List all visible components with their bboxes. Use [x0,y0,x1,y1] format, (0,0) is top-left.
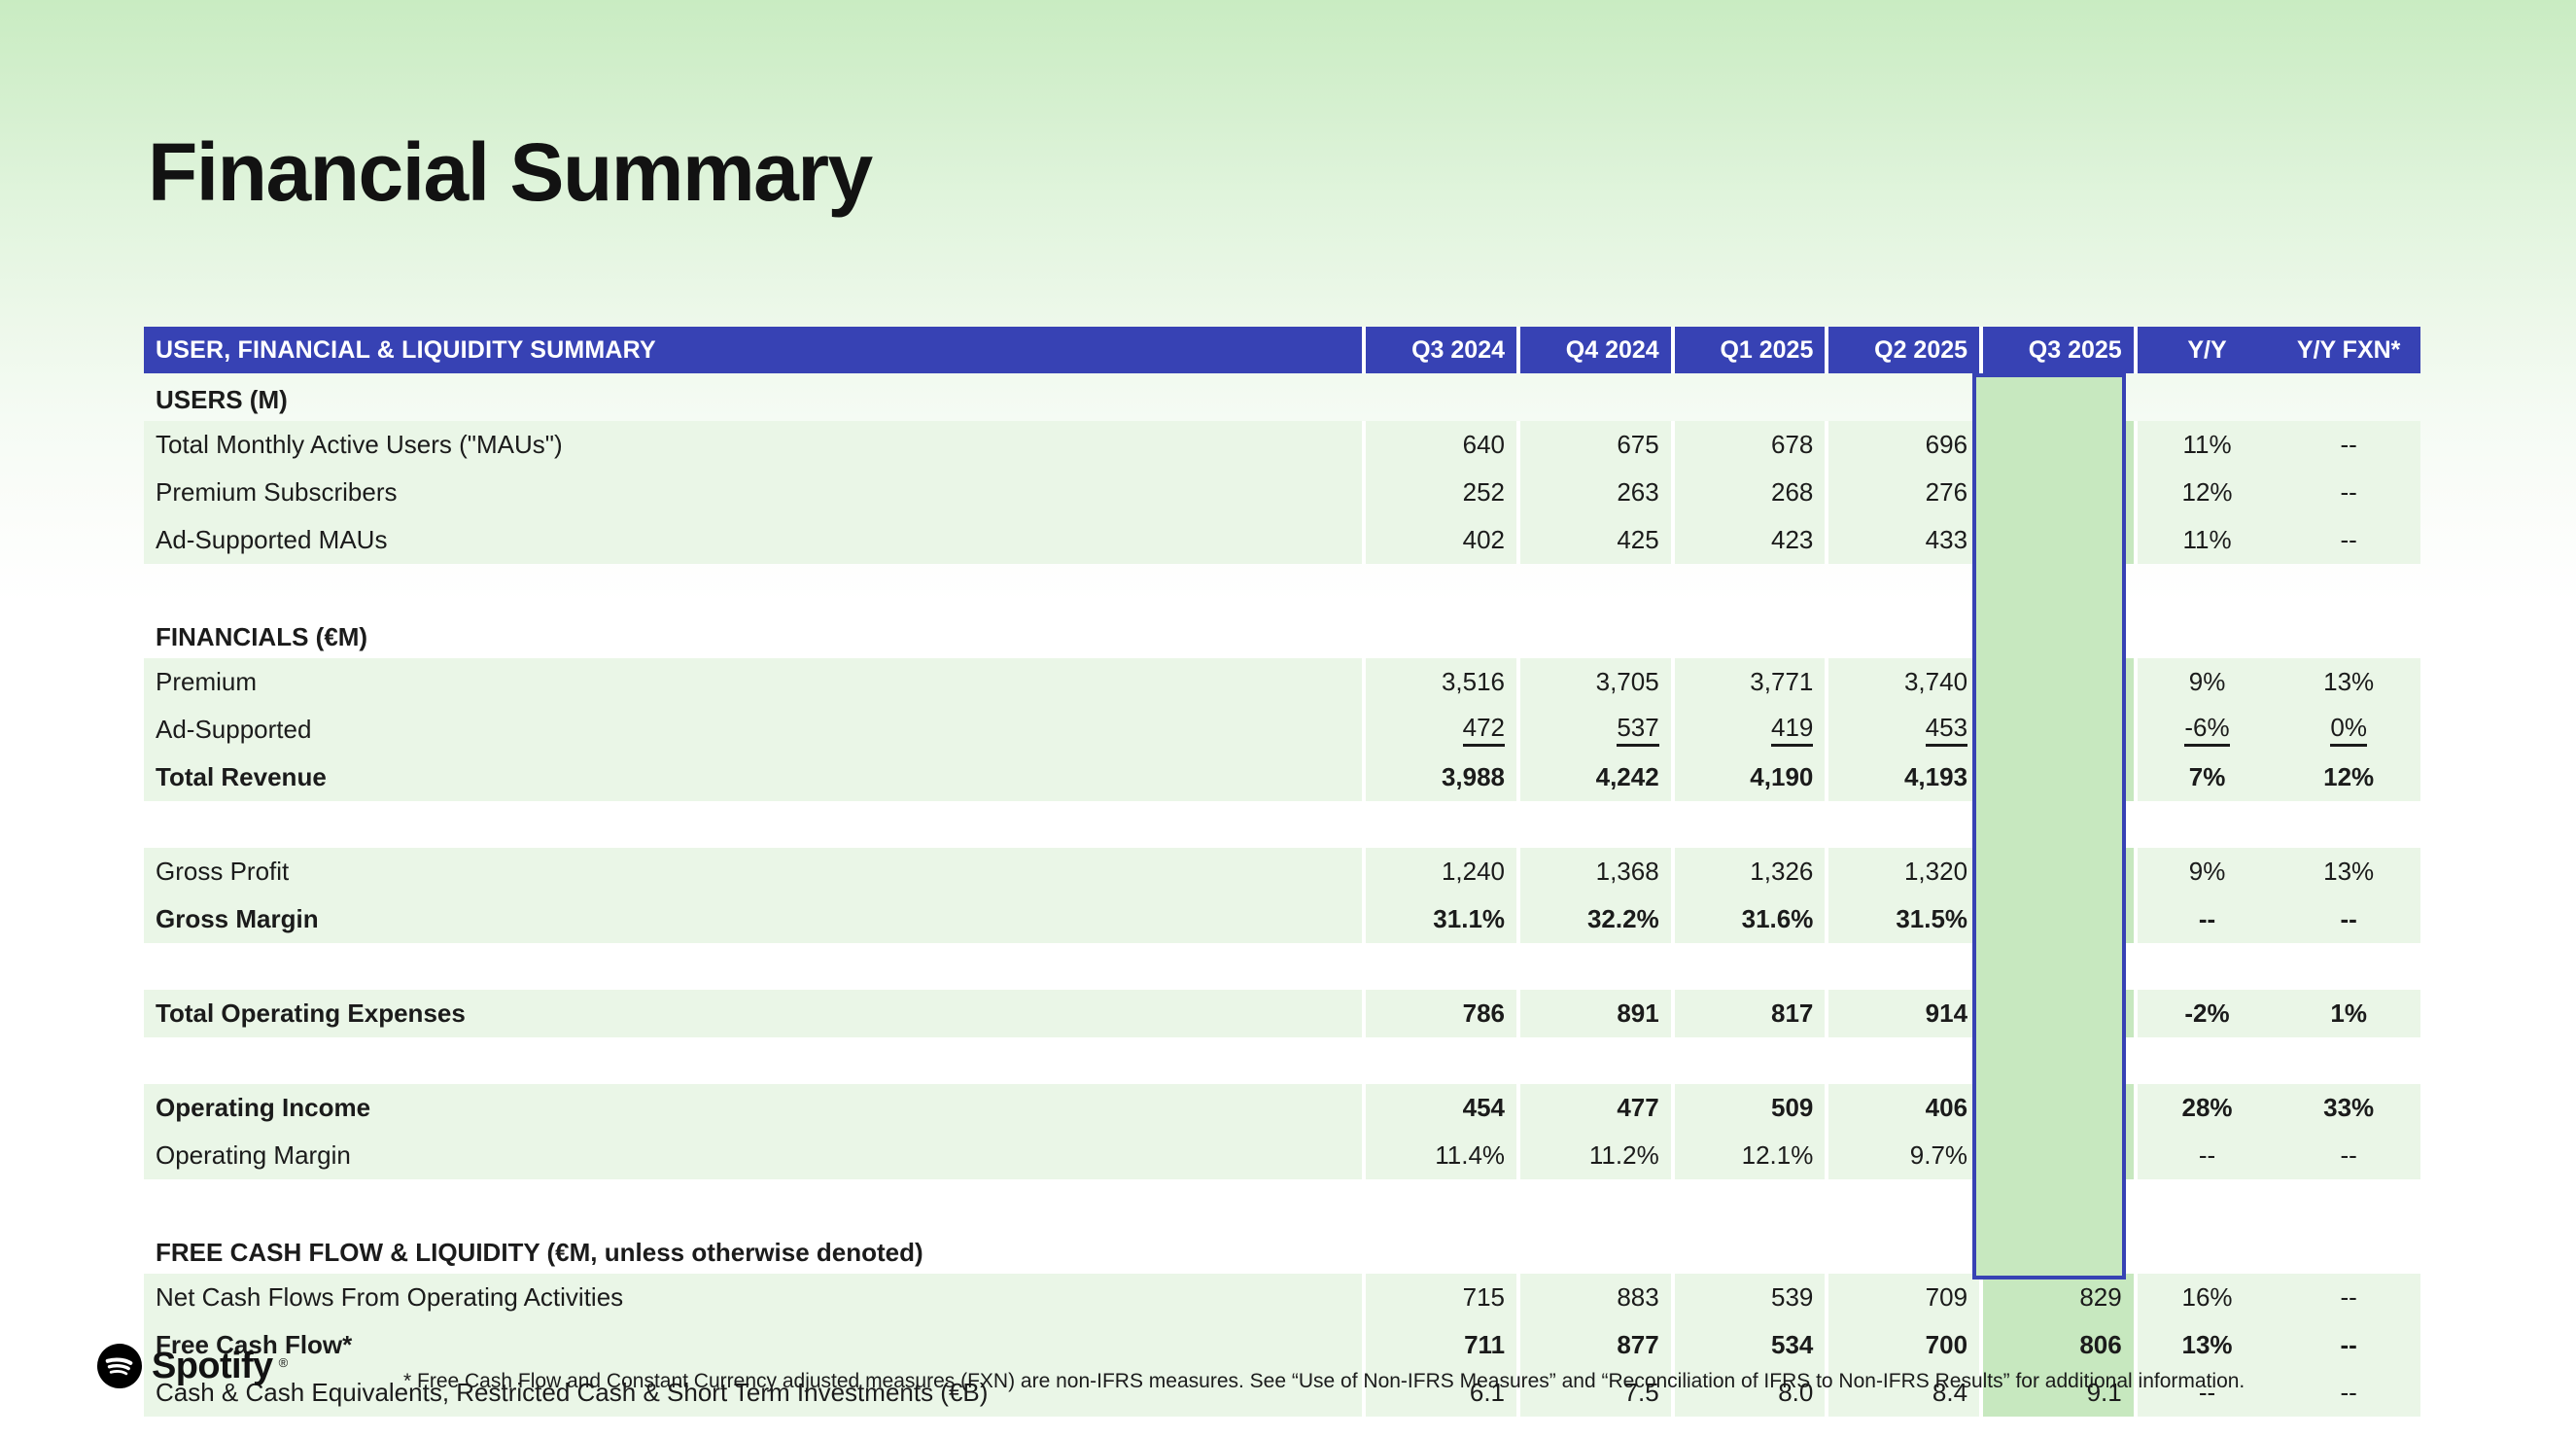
row-value-cell: 534 [1673,1321,1828,1369]
row-value-cell: -- [2277,1369,2420,1417]
row-value-cell: 423 [1673,516,1828,564]
row-value-cell: 539 [1673,1274,1828,1321]
slide-root: Financial Summary USER, FINANCIAL & LIQU… [0,0,2576,1437]
row-value-cell: 11% [2136,516,2278,564]
page-title: Financial Summary [148,131,872,213]
spacer-cell [1673,801,1828,848]
row-value-cell: 3,705 [1518,658,1673,706]
header-col-q1-2025[interactable]: Q1 2025 [1673,327,1828,373]
row-value-cell: 829 [1981,1274,2136,1321]
section-empty-cell [1518,373,1673,421]
section-empty-cell [1673,373,1828,421]
row-value-cell: 9% [2136,658,2278,706]
section-empty-cell [1364,373,1518,421]
row-value-cell: 3,516 [1364,658,1518,706]
row-value-cell: 425 [1518,516,1673,564]
spacer-cell [1827,564,1981,611]
row-label: Net Cash Flows From Operating Activities [144,1274,1364,1321]
section-empty-cell [1827,611,1981,658]
row-value-cell: 252 [1364,469,1518,516]
section-title: FREE CASH FLOW & LIQUIDITY (€M, unless o… [144,1226,1364,1274]
header-col-q4-2024[interactable]: Q4 2024 [1518,327,1673,373]
spacer-cell [1364,801,1518,848]
row-label: Operating Margin [144,1132,1364,1179]
row-label: Total Operating Expenses [144,990,1364,1037]
spacer-cell [144,1179,1364,1226]
spacer-cell [1518,564,1673,611]
row-value-cell: 4,193 [1827,754,1981,801]
row-value-cell: -- [2136,895,2278,943]
row-value-cell: 263 [1518,469,1673,516]
row-value-cell: -- [2277,1274,2420,1321]
row-value-cell: 31.6% [1673,895,1828,943]
spotify-glyph-icon [97,1344,142,1388]
spacer-cell [1673,943,1828,990]
table-row: Free Cash Flow*71187753470080613%-- [144,1321,2420,1369]
spacer-cell [1364,564,1518,611]
row-value-cell: 678 [1673,421,1828,469]
row-value-cell: 7% [2136,754,2278,801]
section-empty-cell [1673,611,1828,658]
q3-2025-highlight-fill [1976,373,2122,1276]
row-value-cell: 709 [1827,1274,1981,1321]
row-value-cell: 883 [1518,1274,1673,1321]
row-value-cell: 786 [1364,990,1518,1037]
row-value-cell: 715 [1364,1274,1518,1321]
section-empty-cell [2277,611,2420,658]
row-label: Free Cash Flow* [144,1321,1364,1369]
row-value-cell: 13% [2277,848,2420,895]
spacer-cell [144,1037,1364,1084]
spacer-cell [2277,801,2420,848]
row-label: Total Monthly Active Users ("MAUs") [144,421,1364,469]
section-empty-cell [1364,1226,1518,1274]
header-col-q2-2025[interactable]: Q2 2025 [1827,327,1981,373]
row-value-cell: 12% [2136,469,2278,516]
row-value-cell: 31.5% [1827,895,1981,943]
spacer-cell [1518,801,1673,848]
spacer-cell [1518,1037,1673,1084]
row-value-cell: 32.2% [1518,895,1673,943]
row-value-cell: 4,242 [1518,754,1673,801]
row-value-cell: 31.1% [1364,895,1518,943]
row-value-cell: 1% [2277,990,2420,1037]
row-value-cell: 276 [1827,469,1981,516]
spacer-cell [2136,1037,2278,1084]
row-value-cell: -- [2277,1321,2420,1369]
section-empty-cell [1364,611,1518,658]
row-value-cell: 12% [2277,754,2420,801]
row-label: Premium [144,658,1364,706]
row-value-cell: 675 [1518,421,1673,469]
row-label: Premium Subscribers [144,469,1364,516]
row-value-cell: 9% [2136,848,2278,895]
spacer-cell [144,943,1364,990]
spacer-cell [2136,564,2278,611]
section-empty-cell [2136,611,2278,658]
row-value-cell: 891 [1518,990,1673,1037]
spacer-cell [2277,943,2420,990]
row-value-cell: 453 [1827,706,1981,754]
row-value-cell: 1,240 [1364,848,1518,895]
table-header: USER, FINANCIAL & LIQUIDITY SUMMARY Q3 2… [144,327,2420,373]
section-title: USERS (M) [144,373,1364,421]
spacer-cell [2277,564,2420,611]
spotify-wordmark: Spotify [152,1346,273,1387]
registered-trademark-icon: ® [279,1355,289,1370]
row-label: Gross Profit [144,848,1364,895]
spacer-cell [1518,1179,1673,1226]
row-value-cell: 3,771 [1673,658,1828,706]
row-value-cell: -2% [2136,990,2278,1037]
section-empty-cell [2136,1226,2278,1274]
row-value-cell: 477 [1518,1084,1673,1132]
row-value-cell: 268 [1673,469,1828,516]
row-value-cell: 0% [2277,706,2420,754]
header-col-yy-fxn[interactable]: Y/Y FXN* [2277,327,2420,373]
spacer-cell [1364,943,1518,990]
row-value-cell: 472 [1364,706,1518,754]
row-value-cell: 806 [1981,1321,2136,1369]
spacer-cell [1518,943,1673,990]
row-value-cell: 4,190 [1673,754,1828,801]
row-value-cell: 11.2% [1518,1132,1673,1179]
spacer-cell [1364,1179,1518,1226]
spotify-logo: Spotify ® [97,1344,288,1388]
row-value-cell: -- [2136,1132,2278,1179]
row-value-cell: 877 [1518,1321,1673,1369]
row-value-cell: 1,368 [1518,848,1673,895]
row-value-cell: -- [2277,516,2420,564]
row-value-cell: 537 [1518,706,1673,754]
row-value-cell: 433 [1827,516,1981,564]
row-value-cell: 12.1% [1673,1132,1828,1179]
row-value-cell: 11% [2136,421,2278,469]
section-empty-cell [2136,373,2278,421]
row-value-cell: 16% [2136,1274,2278,1321]
row-value-cell: 3,740 [1827,658,1981,706]
row-value-cell: 3,988 [1364,754,1518,801]
spacer-cell [144,564,1364,611]
header-col-yy[interactable]: Y/Y [2136,327,2278,373]
table-row: Net Cash Flows From Operating Activities… [144,1274,2420,1321]
row-value-cell: 711 [1364,1321,1518,1369]
section-empty-cell [1827,373,1981,421]
row-value-cell: 28% [2136,1084,2278,1132]
section-empty-cell [2277,1226,2420,1274]
section-empty-cell [1673,1226,1828,1274]
row-value-cell: 419 [1673,706,1828,754]
row-value-cell: 33% [2277,1084,2420,1132]
row-value-cell: 402 [1364,516,1518,564]
spacer-cell [1673,1179,1828,1226]
header-summary-label: USER, FINANCIAL & LIQUIDITY SUMMARY [144,327,1364,373]
row-value-cell: 13% [2136,1321,2278,1369]
row-value-cell: 9.7% [1827,1132,1981,1179]
row-value-cell: 640 [1364,421,1518,469]
header-col-q3-2024[interactable]: Q3 2024 [1364,327,1518,373]
spacer-cell [1827,1037,1981,1084]
section-empty-cell [1518,611,1673,658]
spacer-cell [144,801,1364,848]
row-label: Gross Margin [144,895,1364,943]
spacer-cell [2136,801,2278,848]
spacer-cell [2277,1179,2420,1226]
spacer-cell [1673,564,1828,611]
row-value-cell: 13% [2277,658,2420,706]
row-value-cell: 454 [1364,1084,1518,1132]
row-value-cell: 817 [1673,990,1828,1037]
header-col-q3-2025[interactable]: Q3 2025 [1981,327,2136,373]
row-value-cell: 1,320 [1827,848,1981,895]
row-label: Operating Income [144,1084,1364,1132]
row-label: Total Revenue [144,754,1364,801]
spacer-cell [1673,1037,1828,1084]
footnote-text: * Free Cash Flow and Constant Currency a… [403,1370,2245,1393]
row-value-cell: -6% [2136,706,2278,754]
row-label: Ad-Supported MAUs [144,516,1364,564]
section-empty-cell [1518,1226,1673,1274]
spacer-cell [1364,1037,1518,1084]
row-value-cell: 11.4% [1364,1132,1518,1179]
row-value-cell: -- [2277,469,2420,516]
row-value-cell: -- [2277,895,2420,943]
row-label: Ad-Supported [144,706,1364,754]
row-value-cell: 914 [1827,990,1981,1037]
spacer-cell [1827,801,1981,848]
row-value-cell: 509 [1673,1084,1828,1132]
spacer-cell [2136,943,2278,990]
spacer-cell [2277,1037,2420,1084]
spacer-cell [2136,1179,2278,1226]
row-value-cell: 1,326 [1673,848,1828,895]
section-empty-cell [1827,1226,1981,1274]
row-value-cell: 406 [1827,1084,1981,1132]
section-empty-cell [2277,373,2420,421]
row-value-cell: -- [2277,421,2420,469]
row-value-cell: -- [2277,1132,2420,1179]
row-value-cell: 696 [1827,421,1981,469]
table-header-row: USER, FINANCIAL & LIQUIDITY SUMMARY Q3 2… [144,327,2420,373]
row-value-cell: 700 [1827,1321,1981,1369]
section-title: FINANCIALS (€M) [144,611,1364,658]
spacer-cell [1827,943,1981,990]
spacer-cell [1827,1179,1981,1226]
